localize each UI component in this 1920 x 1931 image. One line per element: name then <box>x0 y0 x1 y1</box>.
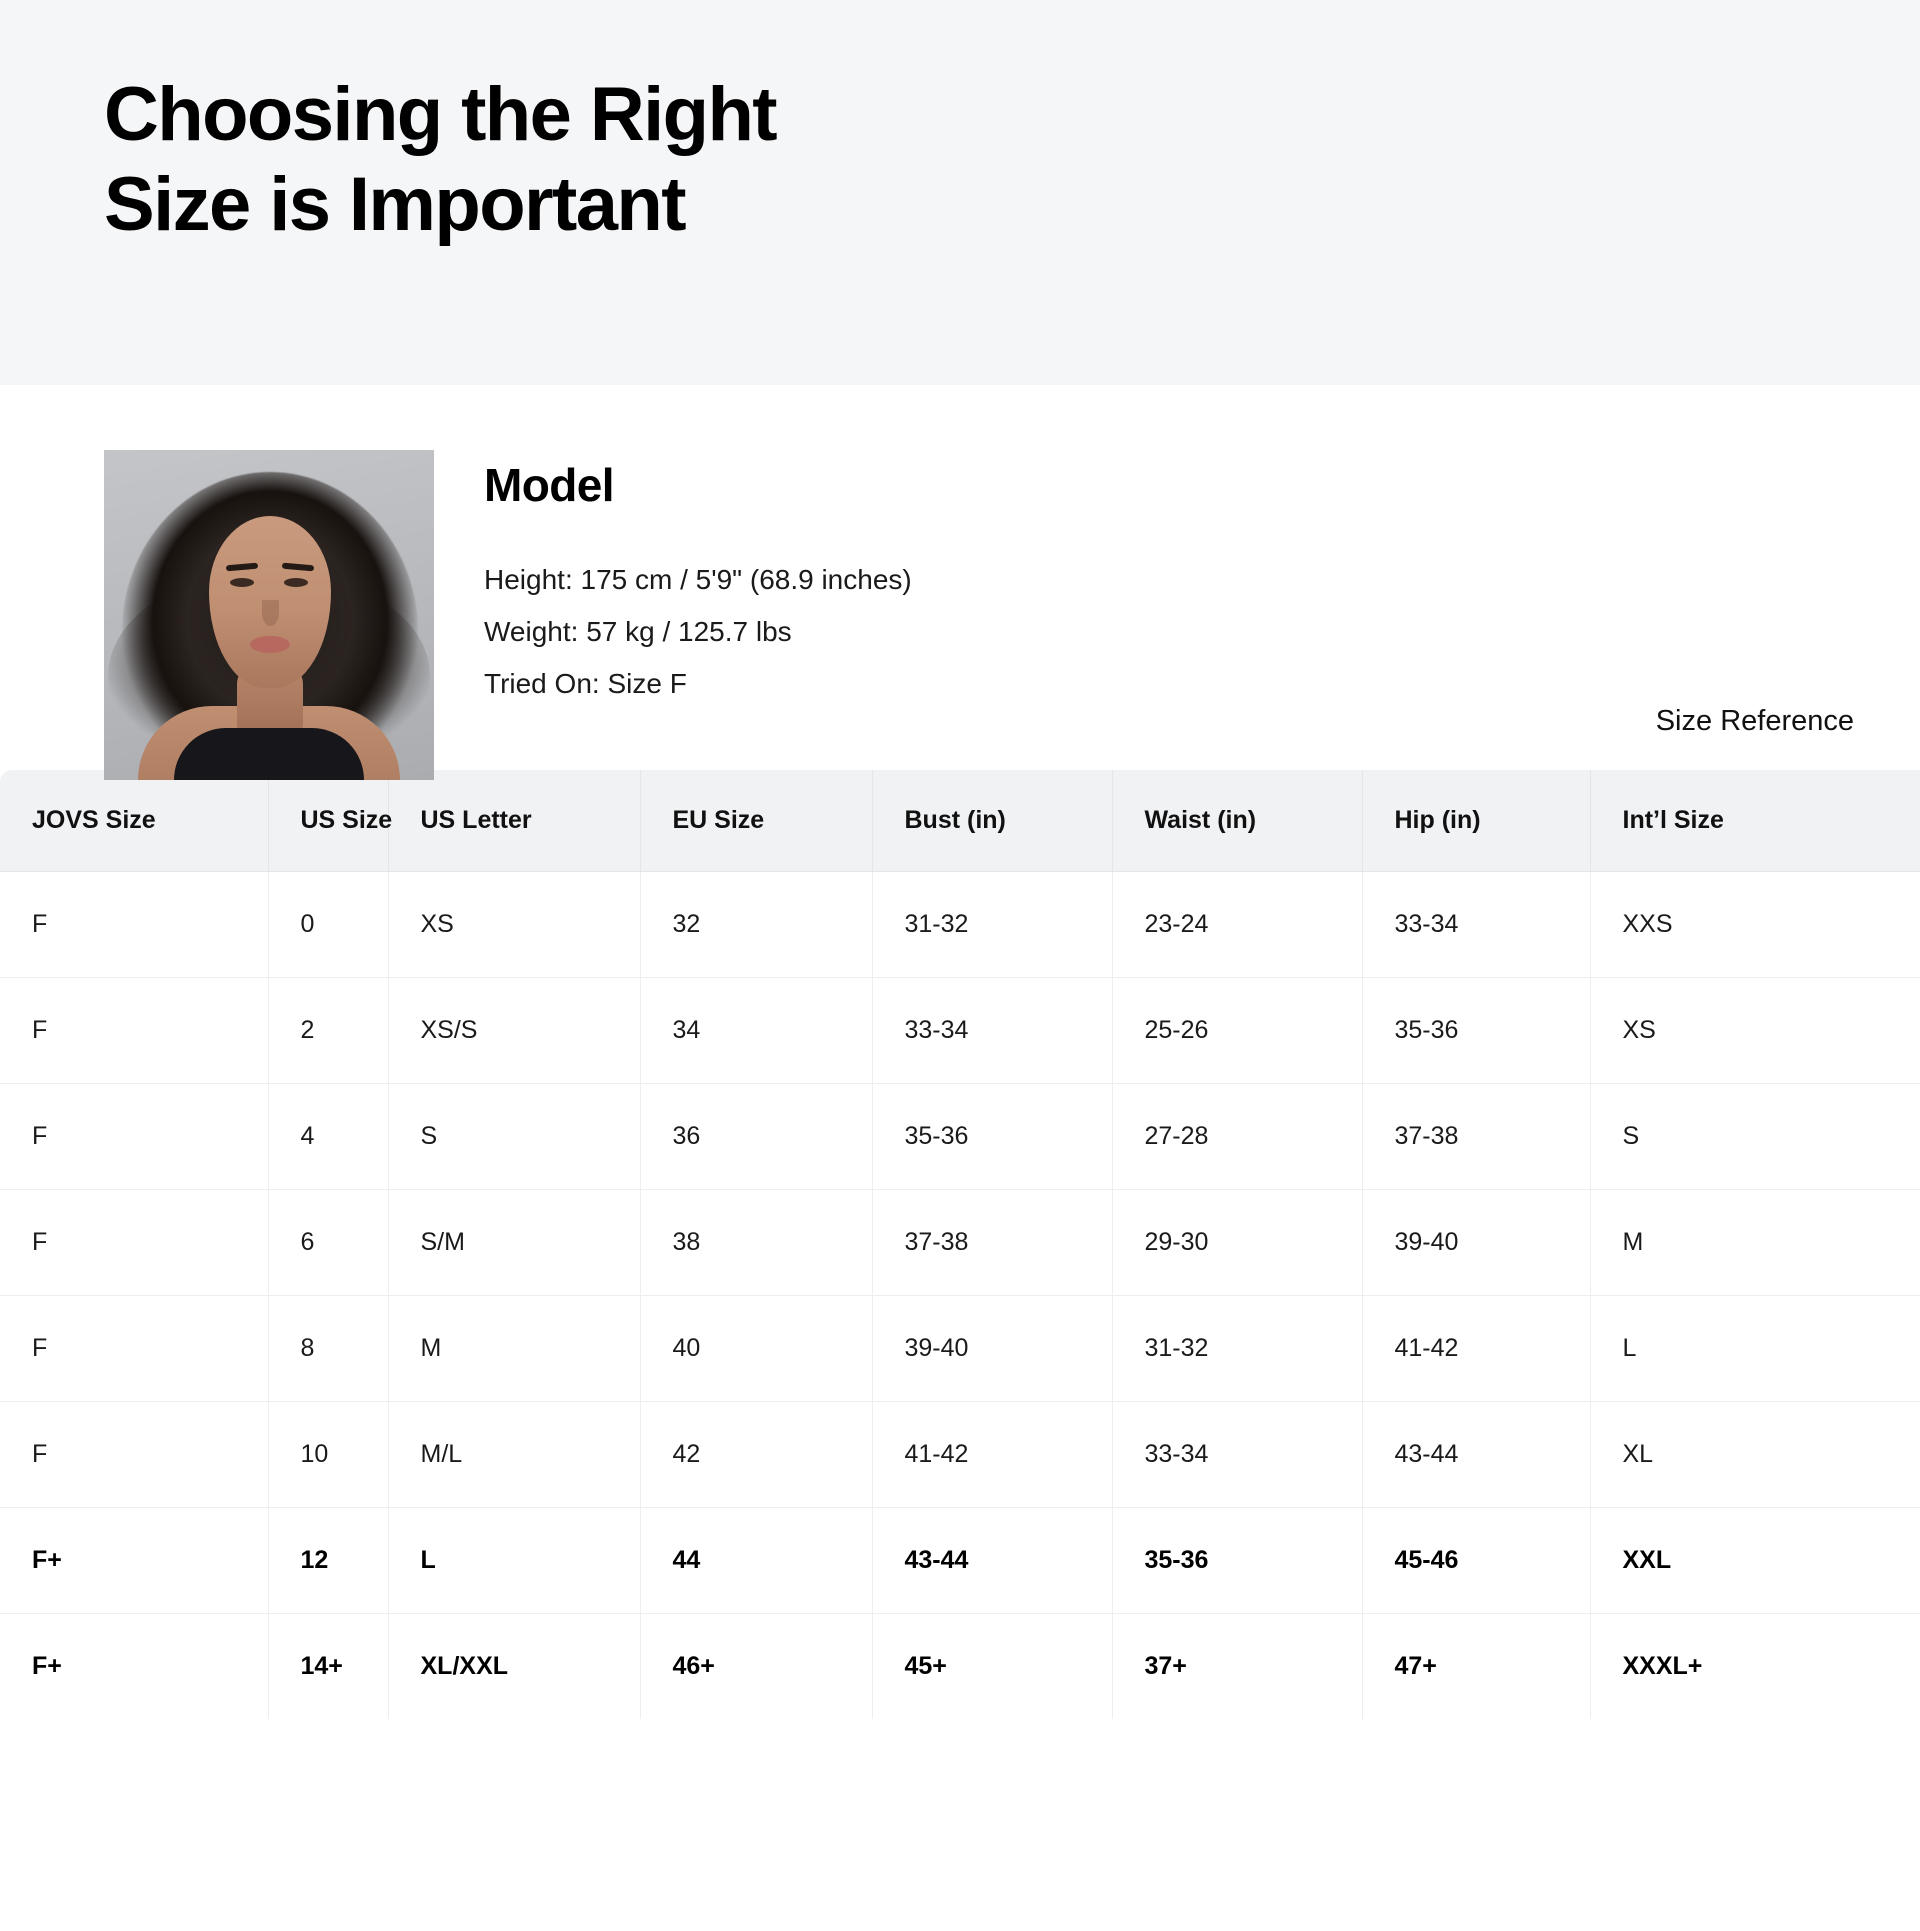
table-cell: 41-42 <box>872 1402 1112 1508</box>
table-cell: 8 <box>268 1296 388 1402</box>
table-cell: XS/S <box>388 978 640 1084</box>
table-cell: 43-44 <box>872 1508 1112 1614</box>
table-cell: F <box>0 1084 268 1190</box>
table-row: F+14+XL/XXL46+45+37+47+XXXL+ <box>0 1614 1920 1720</box>
table-cell: 32 <box>640 872 872 978</box>
table-cell: 0 <box>268 872 388 978</box>
table-cell: M/L <box>388 1402 640 1508</box>
model-weight: Weight: 57 kg / 125.7 lbs <box>484 606 912 658</box>
table-cell: 37-38 <box>872 1190 1112 1296</box>
lips <box>250 636 290 653</box>
table-cell: 41-42 <box>1362 1296 1590 1402</box>
table-cell: 44 <box>640 1508 872 1614</box>
model-info: Model Height: 175 cm / 5'9" (68.9 inches… <box>484 450 912 710</box>
table-cell: XXL <box>1590 1508 1920 1614</box>
hero-banner: Choosing the Right Size is Important <box>0 0 1920 385</box>
table-cell: S/M <box>388 1190 640 1296</box>
table-cell: F <box>0 1190 268 1296</box>
table-cell: 33-34 <box>872 978 1112 1084</box>
table-cell: F <box>0 872 268 978</box>
table-cell: F+ <box>0 1508 268 1614</box>
table-cell: S <box>388 1084 640 1190</box>
model-photo <box>104 450 434 780</box>
table-cell: 25-26 <box>1112 978 1362 1084</box>
size-chart-table: JOVS SizeUS SizeUS LetterEU SizeBust (in… <box>0 770 1920 1719</box>
table-cell: 6 <box>268 1190 388 1296</box>
model-tried-on: Tried On: Size F <box>484 658 912 710</box>
table-cell: XS <box>388 872 640 978</box>
page-title: Choosing the Right Size is Important <box>104 70 1304 249</box>
column-header: Int’l Size <box>1590 770 1920 872</box>
table-cell: F <box>0 1296 268 1402</box>
table-cell: 12 <box>268 1508 388 1614</box>
page-title-line-1: Choosing the Right <box>104 70 1304 160</box>
page-title-line-2: Size is Important <box>104 160 1304 250</box>
eye-right <box>284 578 308 587</box>
table-cell: 36 <box>640 1084 872 1190</box>
table-cell: 31-32 <box>872 872 1112 978</box>
table-cell: XS <box>1590 978 1920 1084</box>
nose <box>262 600 279 626</box>
table-cell: M <box>1590 1190 1920 1296</box>
table-cell: F+ <box>0 1614 268 1720</box>
table-cell: XL/XXL <box>388 1614 640 1720</box>
table-row: F4S3635-3627-2837-38S <box>0 1084 1920 1190</box>
table-row: F2XS/S3433-3425-2635-36XS <box>0 978 1920 1084</box>
eye-left <box>230 578 254 587</box>
table-cell: 33-34 <box>1112 1402 1362 1508</box>
table-cell: 2 <box>268 978 388 1084</box>
table-cell: 14+ <box>268 1614 388 1720</box>
table-cell: M <box>388 1296 640 1402</box>
model-row: Model Height: 175 cm / 5'9" (68.9 inches… <box>104 450 1920 780</box>
table-cell: XXXL+ <box>1590 1614 1920 1720</box>
table-cell: 45-46 <box>1362 1508 1590 1614</box>
column-header: JOVS Size <box>0 770 268 872</box>
table-cell: 35-36 <box>872 1084 1112 1190</box>
table-cell: 23-24 <box>1112 872 1362 978</box>
table-row: F10M/L4241-4233-3443-44XL <box>0 1402 1920 1508</box>
table-cell: 40 <box>640 1296 872 1402</box>
table-row: F+12L4443-4435-3645-46XXL <box>0 1508 1920 1614</box>
tank-top <box>174 728 364 780</box>
table-cell: 34 <box>640 978 872 1084</box>
table-cell: 37+ <box>1112 1614 1362 1720</box>
table-cell: 33-34 <box>1362 872 1590 978</box>
table-cell: 39-40 <box>1362 1190 1590 1296</box>
model-heading: Model <box>484 458 912 512</box>
table-cell: 10 <box>268 1402 388 1508</box>
table-cell: F <box>0 978 268 1084</box>
table-cell: XXS <box>1590 872 1920 978</box>
table-body: F0XS3231-3223-2433-34XXSF2XS/S3433-3425-… <box>0 872 1920 1720</box>
table-cell: 47+ <box>1362 1614 1590 1720</box>
table-cell: 42 <box>640 1402 872 1508</box>
table-cell: 39-40 <box>872 1296 1112 1402</box>
size-table-section: JOVS SizeUS SizeUS LetterEU SizeBust (in… <box>0 770 1920 1719</box>
table-cell: 37-38 <box>1362 1084 1590 1190</box>
column-header: US Letter <box>388 770 640 872</box>
column-header: Bust (in) <box>872 770 1112 872</box>
table-cell: 4 <box>268 1084 388 1190</box>
table-row: F0XS3231-3223-2433-34XXS <box>0 872 1920 978</box>
column-header: Waist (in) <box>1112 770 1362 872</box>
table-cell: 35-36 <box>1112 1508 1362 1614</box>
table-cell: 46+ <box>640 1614 872 1720</box>
table-cell: 38 <box>640 1190 872 1296</box>
table-row: F8M4039-4031-3241-42L <box>0 1296 1920 1402</box>
table-cell: 43-44 <box>1362 1402 1590 1508</box>
table-header: JOVS SizeUS SizeUS LetterEU SizeBust (in… <box>0 770 1920 872</box>
size-reference-label: Size Reference <box>1656 705 1854 738</box>
table-cell: 29-30 <box>1112 1190 1362 1296</box>
column-header: Hip (in) <box>1362 770 1590 872</box>
table-cell: XL <box>1590 1402 1920 1508</box>
model-height: Height: 175 cm / 5'9" (68.9 inches) <box>484 554 912 606</box>
table-cell: 35-36 <box>1362 978 1590 1084</box>
model-section: Model Height: 175 cm / 5'9" (68.9 inches… <box>0 385 1920 770</box>
table-cell: L <box>388 1508 640 1614</box>
table-cell: 45+ <box>872 1614 1112 1720</box>
column-header: EU Size <box>640 770 872 872</box>
table-cell: 31-32 <box>1112 1296 1362 1402</box>
column-header: US Size <box>268 770 388 872</box>
table-cell: 27-28 <box>1112 1084 1362 1190</box>
table-header-row: JOVS SizeUS SizeUS LetterEU SizeBust (in… <box>0 770 1920 872</box>
table-cell: L <box>1590 1296 1920 1402</box>
table-cell: S <box>1590 1084 1920 1190</box>
table-cell: F <box>0 1402 268 1508</box>
table-row: F6S/M3837-3829-3039-40M <box>0 1190 1920 1296</box>
